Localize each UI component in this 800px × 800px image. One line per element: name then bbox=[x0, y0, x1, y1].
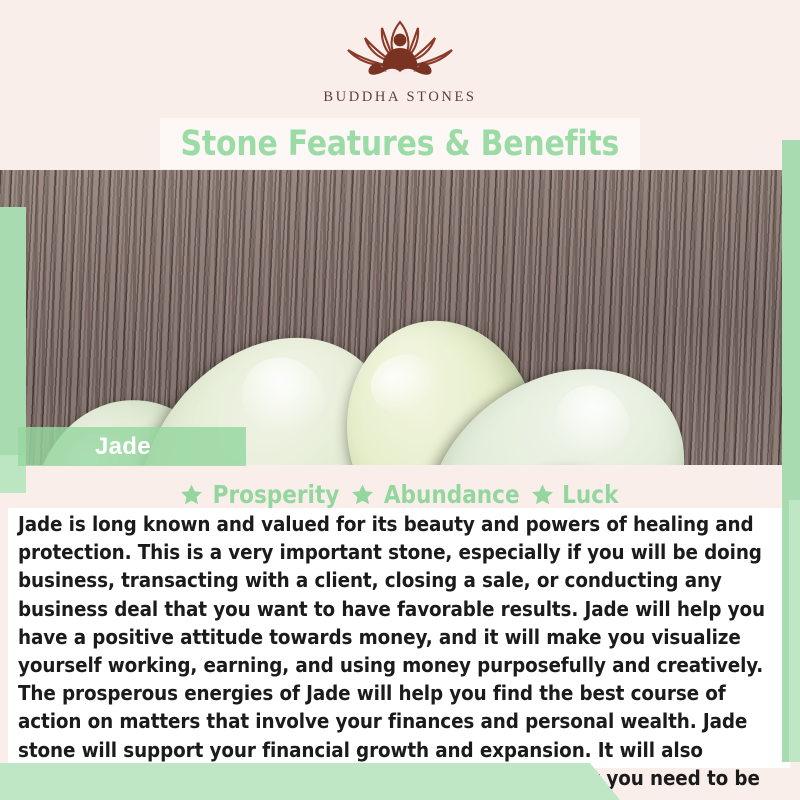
stone-info-card: BUDDHA STONES Stone Features & Benefits … bbox=[0, 0, 800, 800]
title-banner: Stone Features & Benefits bbox=[160, 118, 640, 169]
benefit-label: Abundance bbox=[384, 480, 520, 509]
brand-wordmark: BUDDHA STONES bbox=[323, 89, 476, 106]
benefit-label: Prosperity bbox=[213, 480, 340, 509]
description-text: Jade is long known and valued for its be… bbox=[18, 510, 784, 800]
page-title: Stone Features & Benefits bbox=[181, 124, 620, 164]
decor-green-right-edge bbox=[789, 500, 800, 762]
benefit-label: Luck bbox=[563, 480, 619, 509]
star-icon bbox=[531, 483, 554, 506]
benefits-row: Prosperity Abundance Luck bbox=[0, 477, 800, 511]
lotus-meditation-icon bbox=[325, 16, 475, 84]
brand-logo: BUDDHA STONES bbox=[0, 16, 800, 116]
description-panel: Jade is long known and valued for its be… bbox=[8, 508, 790, 768]
benefit-item: Abundance bbox=[351, 480, 522, 509]
jade-stones-photo bbox=[0, 170, 800, 465]
stone-name-label: Jade bbox=[95, 433, 151, 461]
benefit-item: Luck bbox=[531, 480, 620, 509]
star-icon bbox=[351, 483, 374, 506]
benefit-item: Prosperity bbox=[180, 480, 342, 509]
star-icon bbox=[180, 483, 203, 506]
stone-name-badge: Jade bbox=[18, 427, 246, 466]
